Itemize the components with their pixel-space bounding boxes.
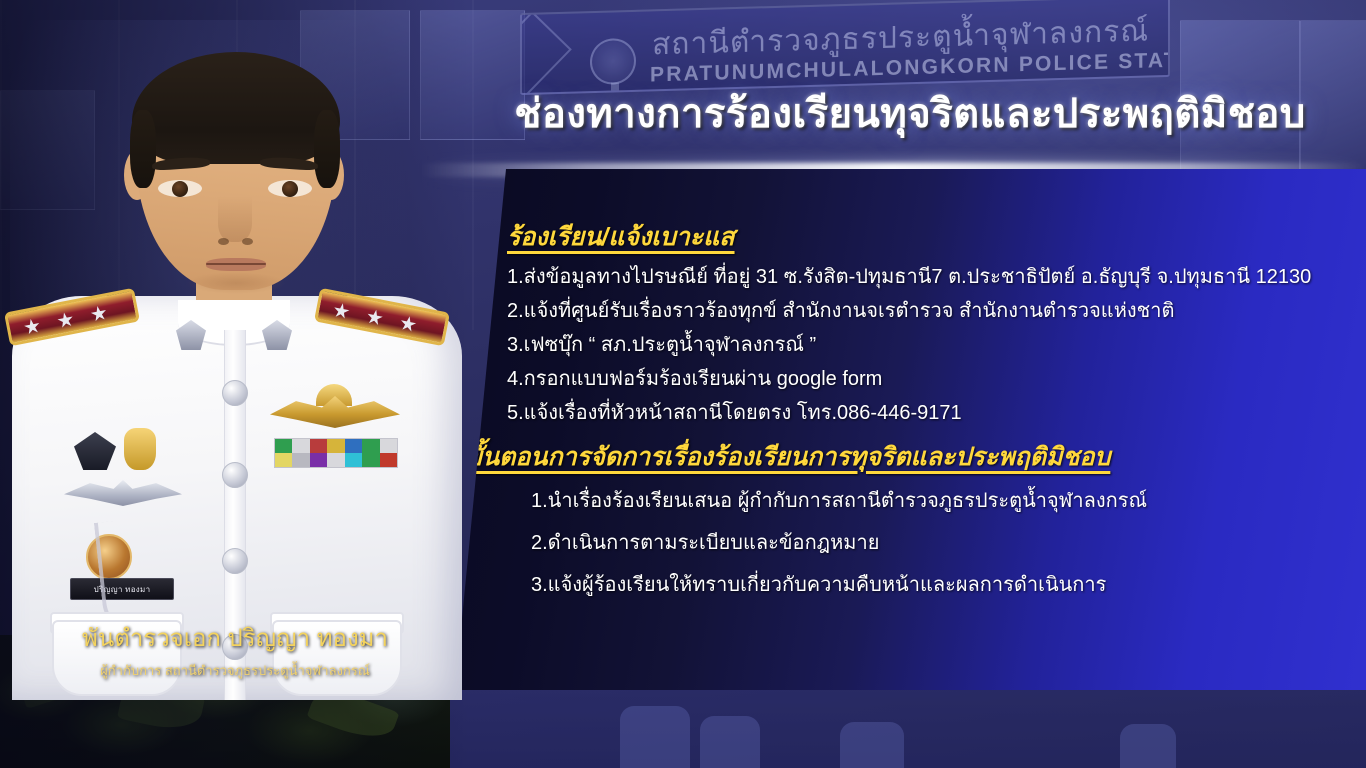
list-item: 3.เฟซบุ๊ก “ สภ.ประตูน้ำจุฬาลงกรณ์ ” (507, 335, 1342, 355)
ribbon (362, 439, 379, 453)
police-seal-icon (590, 38, 636, 85)
nose (218, 196, 252, 242)
eye-right (268, 180, 312, 197)
officer-portrait: ปริญญา ทองมา (0, 0, 470, 700)
rank-star-icon (56, 311, 75, 330)
process-step-list: 1.นำเรื่องร้องเรียนเสนอ ผู้กำกับการสถานี… (531, 491, 1342, 595)
title-container: ช่องทางการร้องเรียนทุจริตและประพฤติมิชอบ (470, 82, 1350, 144)
chin-shadow (186, 272, 286, 294)
ribbon (327, 439, 344, 453)
ribbon (345, 439, 362, 453)
ribbon (275, 439, 292, 453)
ribbon (345, 453, 362, 467)
ribbon (275, 453, 292, 467)
list-item: 2.แจ้งที่ศูนย์รับเรื่องราวร้องทุกข์ สำนั… (507, 301, 1342, 321)
rank-star-icon (332, 302, 351, 321)
ribbon (292, 453, 309, 467)
pupil (172, 181, 188, 197)
ribbon (380, 439, 397, 453)
ribbon (292, 439, 309, 453)
page-title: ช่องทางการร้องเรียนทุจริตและประพฤติมิชอบ (514, 81, 1306, 145)
ribbon (327, 453, 344, 467)
list-item: 3.แจ้งผู้ร้องเรียนให้ทราบเกี่ยวกับความคื… (531, 575, 1342, 595)
ribbon (362, 453, 379, 467)
officer-caption: พันตำรวจเอก ปริญญา ทองมา ผู้กำกับการ สถา… (0, 618, 470, 681)
officer-rank-unit: ผู้กำกับการ สถานีตำรวจภูธรประตูน้ำจุฬาลง… (0, 660, 470, 681)
eye-left (158, 180, 202, 197)
complaint-channel-list: 1.ส่งข้อมูลทางไปรษณีย์ ที่อยู่ 31 ซ.รังส… (507, 267, 1342, 423)
list-item: 1.นำเรื่องร้องเรียนเสนอ ผู้กำกับการสถานี… (531, 491, 1342, 511)
rank-star-icon (90, 304, 109, 323)
ribbon (310, 453, 327, 467)
mouth-line (206, 263, 266, 265)
uniform-button (222, 462, 248, 488)
nostril-right (242, 238, 253, 245)
rank-star-icon (365, 308, 384, 327)
list-item: 5.แจ้งเรื่องที่หัวหน้าสถานีโดยตรง โทร.08… (507, 403, 1342, 423)
officer-name: พันตำรวจเอก ปริญญา ทองมา (0, 618, 470, 657)
rank-star-icon (399, 315, 418, 334)
blurred-figure (620, 706, 690, 768)
list-item: 2.ดำเนินการตามระเบียบและข้อกฎหมาย (531, 533, 1342, 553)
content-panel: ร้องเรียน/แจ้งเบาะแส 1.ส่งข้อมูลทางไปรษณ… (455, 169, 1366, 690)
ribbon-bars (274, 438, 398, 468)
content-panel-inner: ร้องเรียน/แจ้งเบาะแส 1.ส่งข้อมูลทางไปรษณ… (455, 169, 1366, 690)
ribbon (310, 439, 327, 453)
rank-star-icon (23, 317, 42, 336)
gold-badge-icon (124, 428, 156, 470)
blurred-figure (1120, 724, 1176, 768)
blurred-figure (840, 722, 904, 768)
blurred-figure (700, 716, 760, 768)
ribbon (380, 453, 397, 467)
list-item: 1.ส่งข้อมูลทางไปรษณีย์ ที่อยู่ 31 ซ.รังส… (507, 267, 1342, 287)
hair-side-right (314, 110, 340, 188)
process-section-heading: ขั้นตอนการจัดการเรื่องร้องเรียนการทุจริต… (465, 437, 1342, 477)
uniform-button (222, 380, 248, 406)
nostril-left (218, 238, 229, 245)
complaint-section-heading: ร้องเรียน/แจ้งเบาะแส (507, 217, 1342, 257)
poster-stage: สถานีตำรวจภูธรประตูน้ำจุฬาลงกรณ์ PRATUNU… (0, 0, 1366, 768)
list-item: 4.กรอกแบบฟอร์มร้องเรียนผ่าน google form (507, 369, 1342, 389)
pupil (282, 181, 298, 197)
hair-side-left (130, 110, 156, 188)
uniform-button (222, 548, 248, 574)
